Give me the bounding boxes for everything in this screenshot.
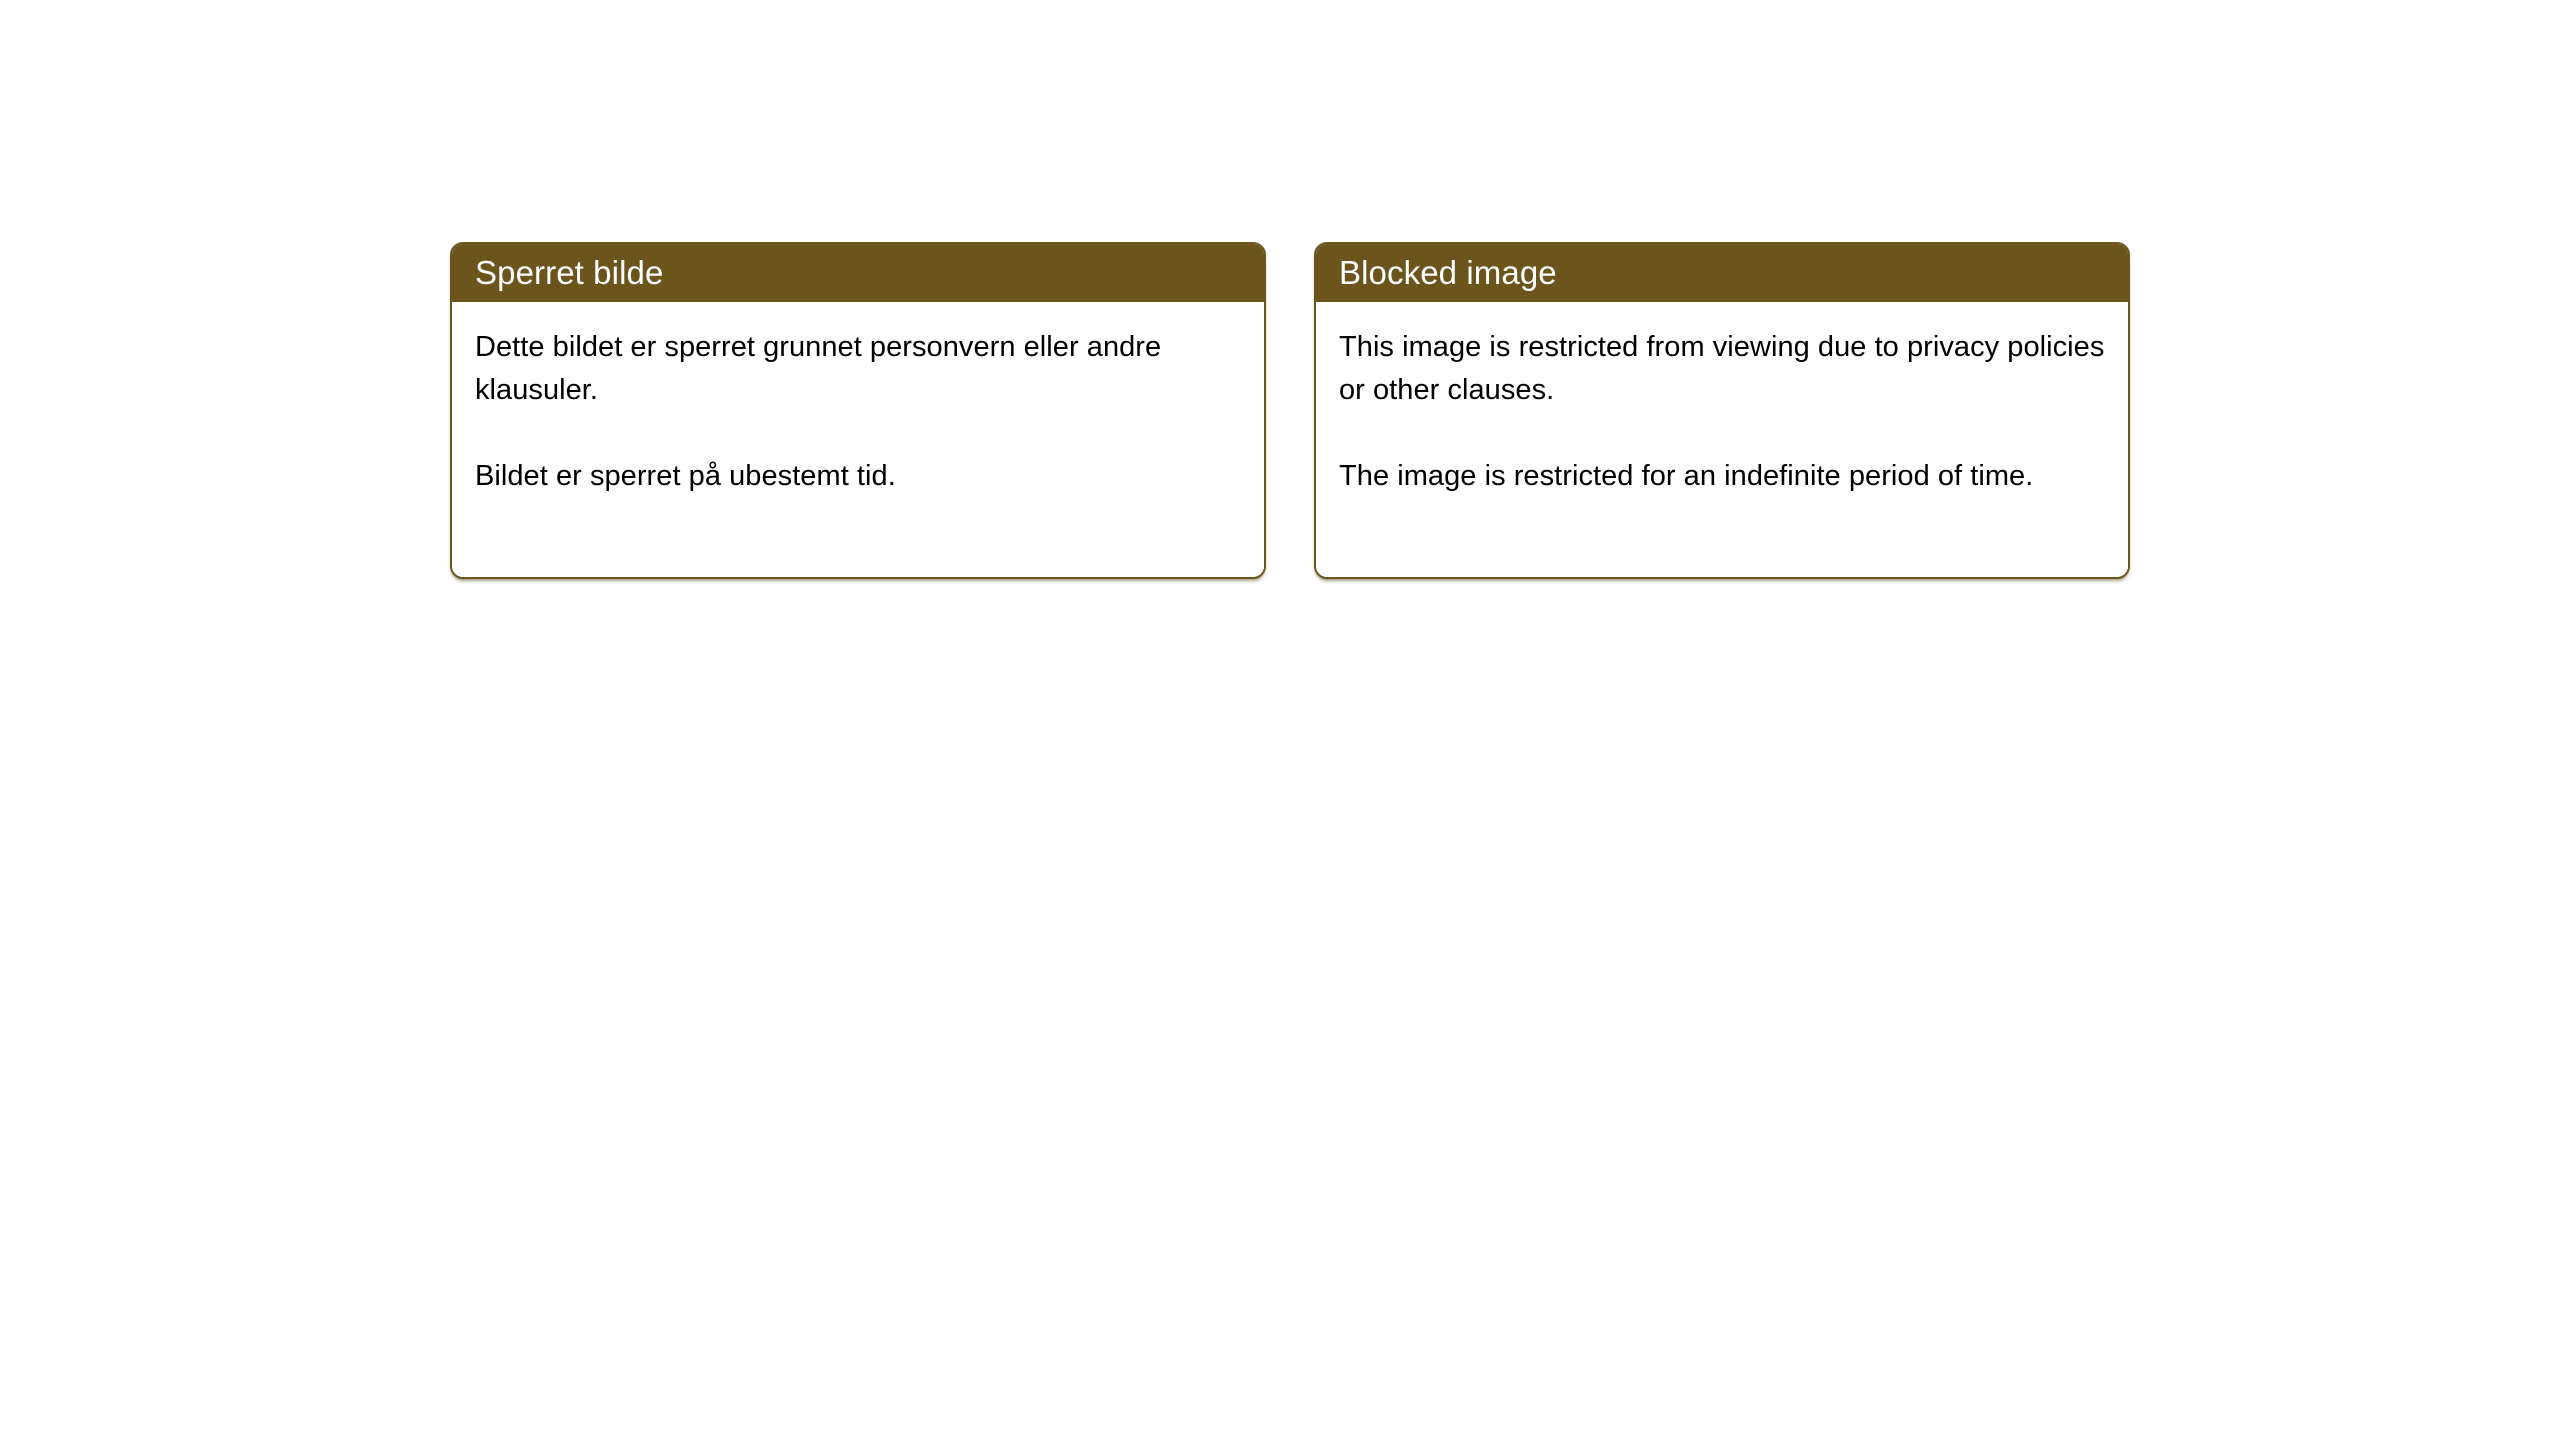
paragraph-spacer-en xyxy=(1339,412,2106,455)
blocked-image-notice-card-no: Sperret bilde Dette bildet er sperret gr… xyxy=(450,242,1266,579)
paragraph-spacer-no xyxy=(475,412,1242,455)
card-paragraph-en-1: This image is restricted from viewing du… xyxy=(1339,326,2106,412)
blocked-image-notice-card-en: Blocked image This image is restricted f… xyxy=(1314,242,2130,579)
notice-card-group: Sperret bilde Dette bildet er sperret gr… xyxy=(450,242,2130,579)
card-paragraph-no-2: Bildet er sperret på ubestemt tid. xyxy=(475,455,1242,498)
card-paragraph-en-2: The image is restricted for an indefinit… xyxy=(1339,455,2106,498)
card-body-en: This image is restricted from viewing du… xyxy=(1316,302,2128,577)
page-root: Sperret bilde Dette bildet er sperret gr… xyxy=(0,0,2560,1440)
card-body-no: Dette bildet er sperret grunnet personve… xyxy=(452,302,1264,577)
card-header-en: Blocked image xyxy=(1316,244,2128,302)
card-title-no: Sperret bilde xyxy=(475,253,663,293)
card-title-en: Blocked image xyxy=(1339,253,1557,293)
card-header-no: Sperret bilde xyxy=(452,244,1264,302)
card-paragraph-no-1: Dette bildet er sperret grunnet personve… xyxy=(475,326,1242,412)
